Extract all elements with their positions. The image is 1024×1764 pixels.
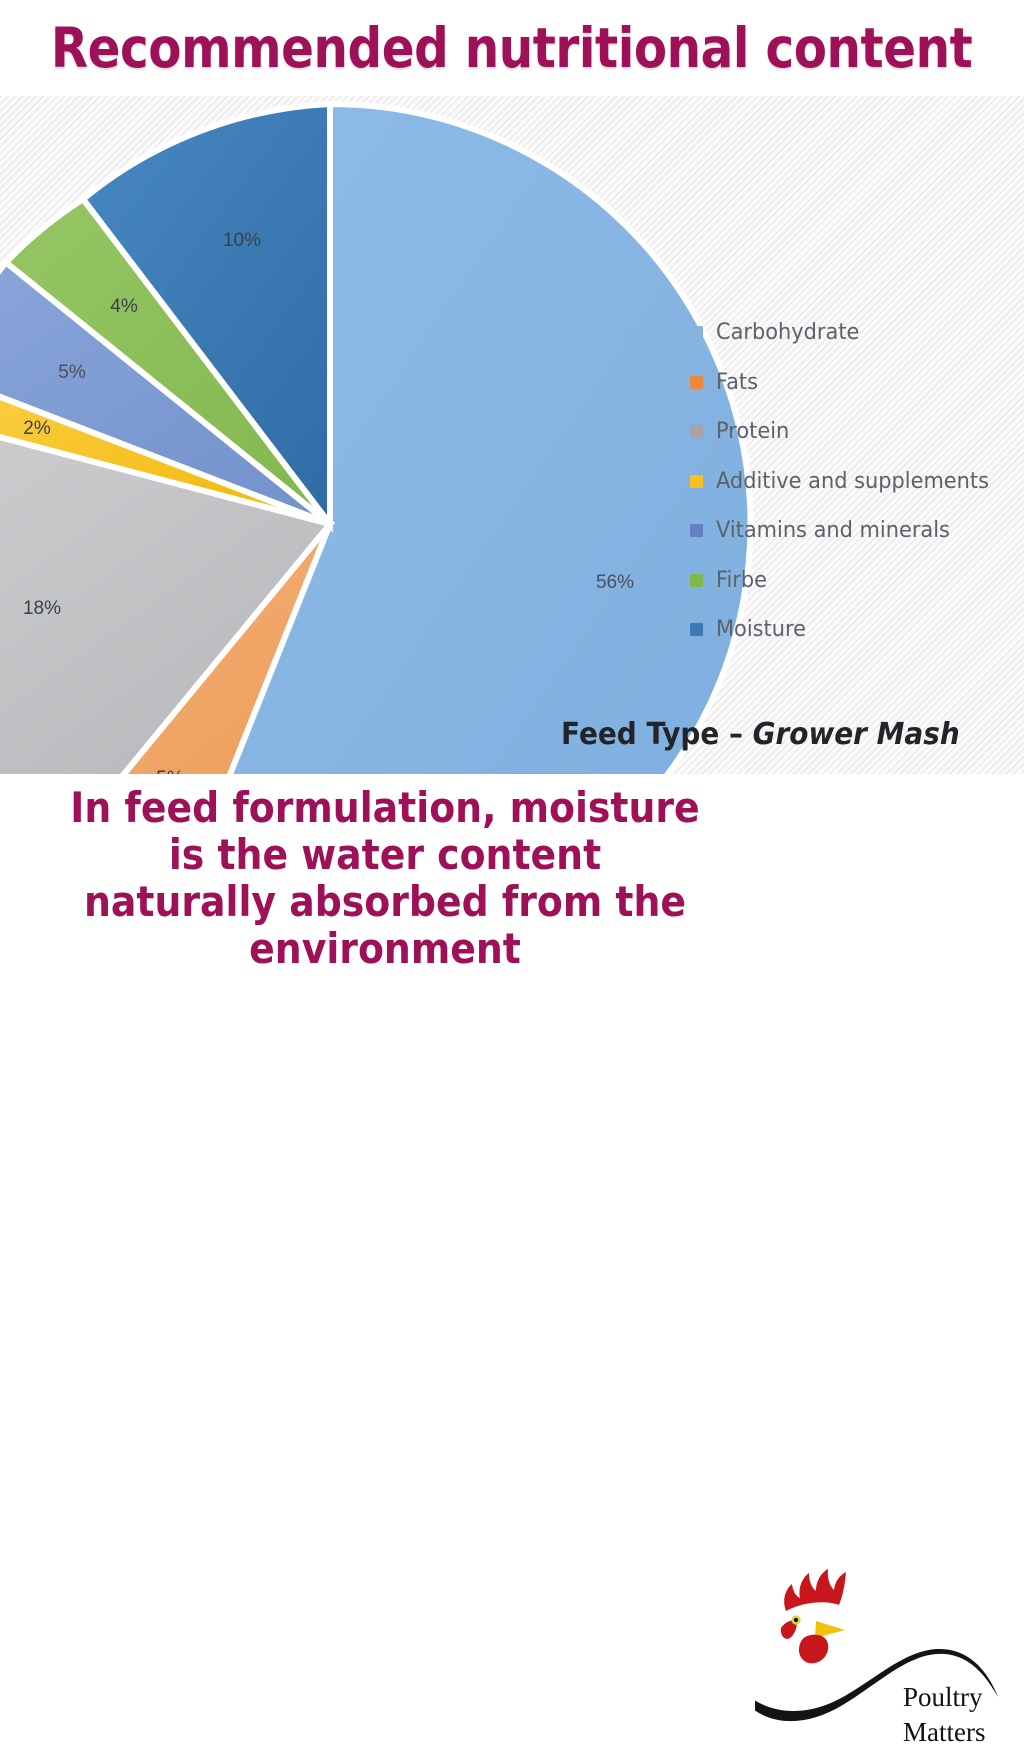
feed-type-prefix: Feed Type – <box>561 717 753 752</box>
pie-label-protein: 18% <box>23 598 61 619</box>
legend-swatch-protein <box>690 425 703 438</box>
legend-item-carbohydrate[interactable]: Carbohydrate <box>690 308 1020 358</box>
feed-type-value: Grower Mash <box>753 717 960 752</box>
logo-text-line2: Matters <box>903 1717 985 1747</box>
page-title: Recommended nutritional content <box>51 21 973 76</box>
legend-item-vitamins[interactable]: Vitamins and minerals <box>690 506 1020 556</box>
legend-swatch-additive <box>690 475 703 488</box>
chart-legend: Carbohydrate Fats Protein Additive and s… <box>690 308 1020 655</box>
caption-band: In feed formulation, moisture is the wat… <box>0 774 1024 1024</box>
legend-item-additive[interactable]: Additive and supplements <box>690 457 1020 507</box>
pie-label-vitamins: 5% <box>58 362 86 383</box>
logo-text-line1: Poultry <box>903 1682 983 1712</box>
legend-label-vitamins: Vitamins and minerals <box>716 518 950 543</box>
legend-swatch-fats <box>690 376 703 389</box>
feed-type-label: Feed Type – Grower Mash <box>561 717 960 752</box>
legend-label-protein: Protein <box>716 419 789 444</box>
caption-line-2: is the water content <box>39 831 732 878</box>
rooster-eye-icon <box>791 1615 800 1624</box>
caption-line-4: environment <box>39 925 732 972</box>
legend-swatch-moisture <box>690 623 703 636</box>
legend-label-carbohydrate: Carbohydrate <box>716 320 859 345</box>
legend-swatch-fibre <box>690 574 703 587</box>
caption-text: In feed formulation, moisture is the wat… <box>39 784 732 972</box>
pie-label-additive: 2% <box>23 418 51 439</box>
logo-svg: Poultry Matters <box>755 1564 1020 1764</box>
legend-label-fibre: Firbe <box>716 568 767 593</box>
pie-label-moisture: 10% <box>223 230 261 251</box>
legend-label-additive: Additive and supplements <box>716 469 989 494</box>
pie-label-carbohydrate: 56% <box>596 572 634 593</box>
pie-label-fibre: 4% <box>110 296 138 317</box>
legend-item-moisture[interactable]: Moisture <box>690 605 1020 655</box>
rooster-wattle-icon <box>799 1635 828 1664</box>
legend-label-fats: Fats <box>716 370 758 395</box>
poultry-matters-logo: Poultry Matters <box>755 1564 1020 1764</box>
chart-panel: 56% 5% 18% 2% 5% 4% 10% Carbohydrate Fat… <box>0 96 1024 774</box>
title-band: Recommended nutritional content <box>0 0 1024 96</box>
legend-item-fats[interactable]: Fats <box>690 358 1020 408</box>
legend-item-fibre[interactable]: Firbe <box>690 556 1020 606</box>
caption-line-1: In feed formulation, moisture <box>39 784 732 831</box>
caption-line-3: naturally absorbed from the <box>39 878 732 925</box>
legend-item-protein[interactable]: Protein <box>690 407 1020 457</box>
legend-label-moisture: Moisture <box>716 617 806 642</box>
legend-swatch-vitamins <box>690 524 703 537</box>
legend-swatch-carbohydrate <box>690 326 703 339</box>
